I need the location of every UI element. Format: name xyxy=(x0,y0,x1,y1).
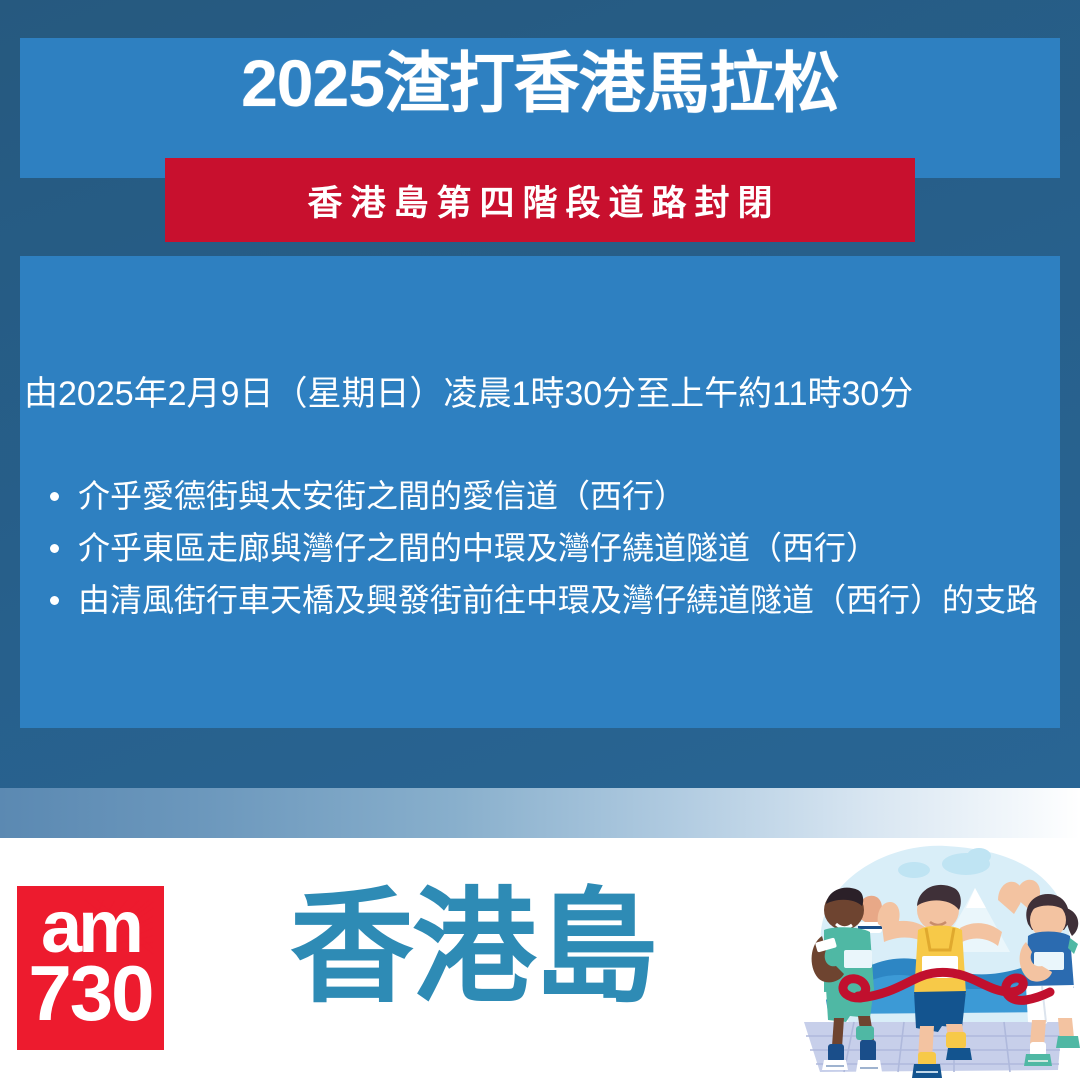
footer-bar: am 730 香港島 xyxy=(0,838,1080,1080)
subtitle-banner: 香港島第四階段道路封閉 xyxy=(165,158,915,242)
bullet-icon xyxy=(50,544,59,553)
road-closure-list: 介乎愛德街與太安街之間的愛信道（西行） 介乎東區走廊與灣仔之間的中環及灣仔繞道隧… xyxy=(40,472,1050,628)
subtitle-text: 香港島第四階段道路封閉 xyxy=(299,175,780,226)
list-item: 介乎東區走廊與灣仔之間的中環及灣仔繞道隧道（西行） xyxy=(40,524,1050,574)
bullet-icon xyxy=(50,492,59,501)
poster-root: 2025渣打香港馬拉松 香港島第四階段道路封閉 由2025年2月9日（星期日）凌… xyxy=(0,0,1080,1080)
closure-item-label: 介乎東區走廊與灣仔之間的中環及灣仔繞道隧道（西行） xyxy=(78,530,878,566)
list-item: 由清風街行車天橋及興發街前往中環及灣仔繞道隧道（西行）的支路 xyxy=(40,576,1050,626)
gradient-divider xyxy=(0,788,1080,838)
district-name-label: 香港島 xyxy=(290,886,656,1010)
page-title: 2025渣打香港馬拉松 xyxy=(0,50,1080,116)
list-item: 介乎愛德街與太安街之間的愛信道（西行） xyxy=(40,472,1050,522)
closure-datetime-text: 由2025年2月9日（星期日）凌晨1時30分至上午約11時30分 xyxy=(24,374,1034,415)
bullet-icon xyxy=(50,596,59,605)
am730-logo: am 730 xyxy=(17,886,164,1050)
three-runners-finish-line-icon xyxy=(770,838,1080,1080)
closure-item-label: 由清風街行車天橋及興發街前往中環及灣仔繞道隧道（西行）的支路 xyxy=(78,582,1038,618)
logo-text-730: 730 xyxy=(17,954,164,1032)
closure-item-label: 介乎愛德街與太安街之間的愛信道（西行） xyxy=(78,478,686,514)
